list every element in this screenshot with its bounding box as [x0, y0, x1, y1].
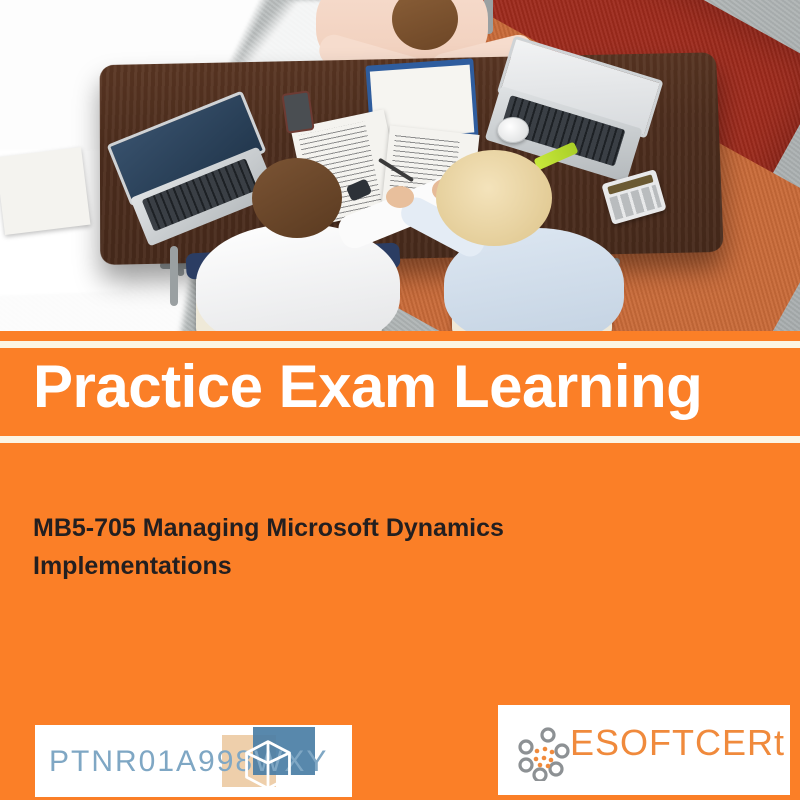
smartphone — [281, 90, 314, 134]
banner-rule-top — [0, 341, 800, 348]
exam-cover-page: Practice Exam Learning MB5-705 Managing … — [0, 0, 800, 800]
document-sheet-left — [0, 147, 90, 235]
person-woman-hand — [386, 186, 414, 208]
cup-lid-1 — [497, 117, 529, 143]
person-woman-head — [436, 150, 552, 246]
banner-rule-bottom — [0, 436, 800, 443]
exam-subtitle: MB5-705 Managing Microsoft Dynamics Impl… — [33, 509, 673, 585]
person-man-head — [252, 158, 342, 238]
cube-icon — [240, 737, 296, 793]
chair-man-frame — [170, 246, 178, 306]
cover-photo — [0, 0, 800, 331]
esoftcert-logo: ESOFTCERt — [498, 705, 790, 795]
esoftcert-wordmark: ESOFTCERt — [570, 722, 785, 764]
banner-title: Practice Exam Learning — [33, 352, 773, 422]
partner-code-logo: PTNR01A998WXY — [35, 725, 352, 797]
